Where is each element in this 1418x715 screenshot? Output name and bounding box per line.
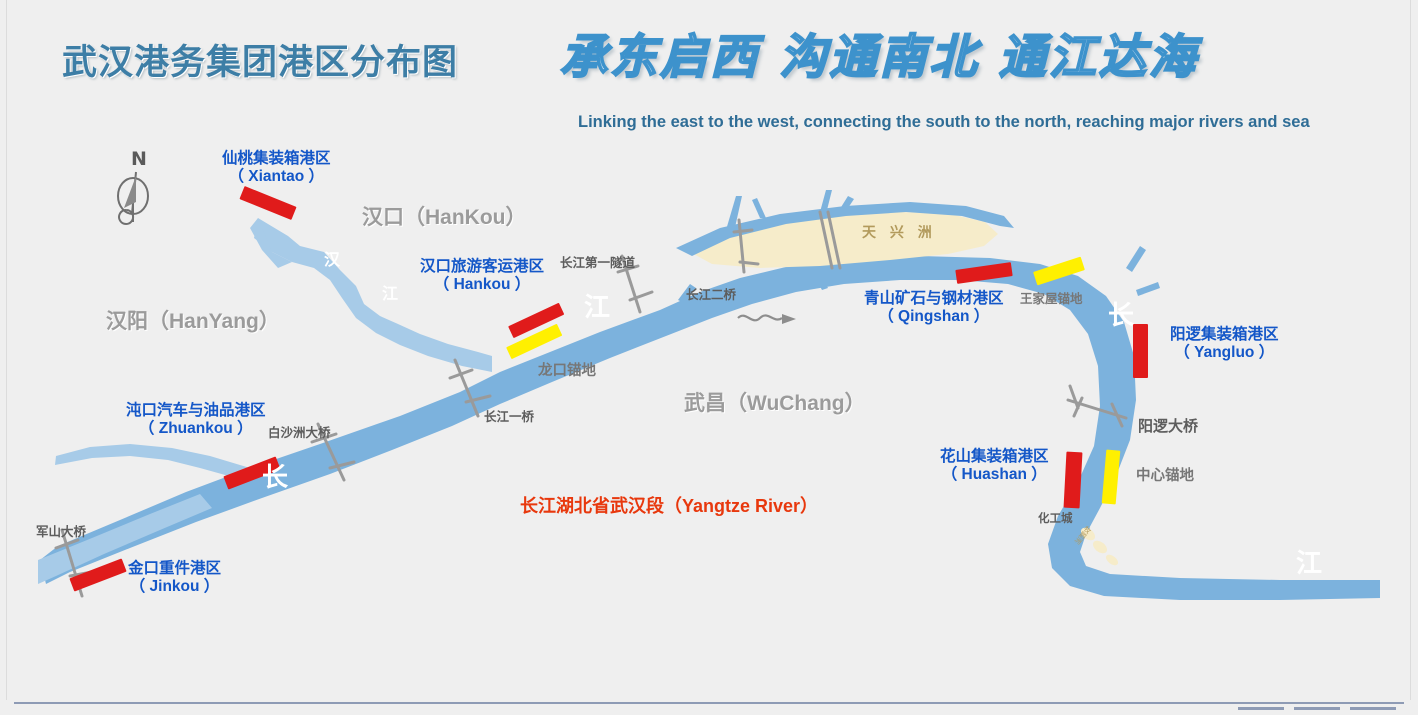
district-label-wuchang: 武昌（WuChang） [684, 392, 866, 417]
port-jinkou-cn: 金口重件港区 [128, 560, 221, 578]
port-jinkou-en: （ Jinkou ） [130, 578, 220, 595]
river-label-han-2: 江 [382, 286, 398, 305]
district-label-hanyang: 汉阳（HanYang） [106, 310, 280, 335]
port-zhuankou-cn: 沌口汽车与油品港区 [126, 402, 266, 420]
port-yangluo-en: （ Yangluo ） [1174, 344, 1274, 361]
district-hankou-en: HanKou [425, 206, 506, 229]
page-title: 武汉港务集团港区分布图 [62, 42, 458, 83]
district-hankou-cn: 汉口 [362, 206, 404, 229]
port-label-zhuankou[interactable]: 沌口汽车与油品港区 （ Zhuankou ） [126, 402, 266, 439]
bridge-label-changjiang-2: 长江二桥 [686, 288, 736, 303]
port-zhuankou-en: （ Zhuankou ） [139, 420, 253, 437]
port-label-yangluo[interactable]: 阳逻集装箱港区 （ Yangluo ） [1170, 326, 1279, 363]
port-label-hankou[interactable]: 汉口旅游客运港区 （ Hankou ） [420, 258, 544, 295]
district-wuchang-cn: 武昌 [684, 392, 726, 415]
port-hankou-cn: 汉口旅游客运港区 [420, 258, 544, 276]
han-river-shape [250, 218, 492, 372]
town-label-chemical-city: 化工城 [1038, 513, 1073, 527]
port-label-huashan[interactable]: 花山集装箱港区 （ Huashan ） [940, 448, 1049, 485]
bottom-segment-2 [1294, 707, 1340, 710]
port-huashan-cn: 花山集装箱港区 [940, 448, 1049, 466]
river-label-chang-1: 长 [262, 462, 288, 493]
anchorage-label-longkou: 龙口锚地 [538, 363, 596, 380]
district-wuchang-en: WuChang [747, 392, 845, 415]
anchorage-label-wangjiawu: 王家屋锚地 [1020, 292, 1083, 307]
slogan-chinese: 承东启西 沟通南北 通江达海 [560, 30, 1199, 85]
bridge-label-baishazhou: 白沙洲大桥 [268, 426, 331, 441]
anchorage-label-zhongxin: 中心锚地 [1136, 468, 1194, 485]
district-hanyang-en: HanYang [169, 310, 259, 333]
slogan-english: Linking the east to the west, connecting… [578, 113, 1310, 132]
bridge-label-tunnel-1: 长江第一隧道 [560, 256, 635, 271]
port-label-jinkou[interactable]: 金口重件港区 （ Jinkou ） [128, 560, 221, 597]
port-qingshan-en: （ Qingshan ） [878, 308, 989, 325]
flow-arrow-icon [738, 314, 796, 324]
bottom-segment-3 [1350, 707, 1396, 710]
port-marker-yangluo[interactable] [1133, 324, 1148, 378]
river-label-han-1: 汉 [324, 252, 340, 271]
compass-north-label: N [131, 148, 147, 170]
bottom-segment-1 [1238, 707, 1284, 710]
compass-rose-icon [118, 172, 148, 224]
map-canvas: .river { fill:#7cb2dd; } .riverlt { fill… [0, 0, 1418, 715]
bottom-divider [14, 702, 1404, 704]
port-hankou-en: （ Hankou ） [434, 276, 530, 293]
port-label-xiantao[interactable]: 仙桃集装箱港区 （ Xiantao ） [222, 150, 331, 187]
bridge-label-changjiang-1: 长江一桥 [484, 410, 534, 425]
port-qingshan-cn: 青山矿石与钢材港区 [864, 290, 1004, 308]
district-label-hankou: 汉口（HanKou） [362, 206, 527, 231]
bridge-label-yangluo: 阳逻大桥 [1138, 418, 1198, 436]
bridge-label-junshan: 军山大桥 [36, 525, 86, 540]
port-marker-xiantao[interactable] [239, 186, 296, 220]
island-label-tianxingzhou: 天 兴 洲 [862, 224, 937, 241]
yangtze-river-caption: 长江湖北省武汉段（Yangtze River） [520, 496, 818, 517]
port-yangluo-cn: 阳逻集装箱港区 [1170, 326, 1279, 344]
river-label-jiang-2: 江 [1296, 548, 1322, 579]
district-hanyang-cn: 汉阳 [106, 310, 148, 333]
river-label-jiang-1: 江 [584, 292, 610, 323]
port-label-qingshan[interactable]: 青山矿石与钢材港区 （ Qingshan ） [864, 290, 1004, 327]
port-xiantao-cn: 仙桃集装箱港区 [222, 150, 331, 168]
river-label-chang-2: 长 [1108, 300, 1134, 331]
port-huashan-en: （ Huashan ） [942, 466, 1047, 483]
port-xiantao-en: （ Xiantao ） [228, 168, 324, 185]
